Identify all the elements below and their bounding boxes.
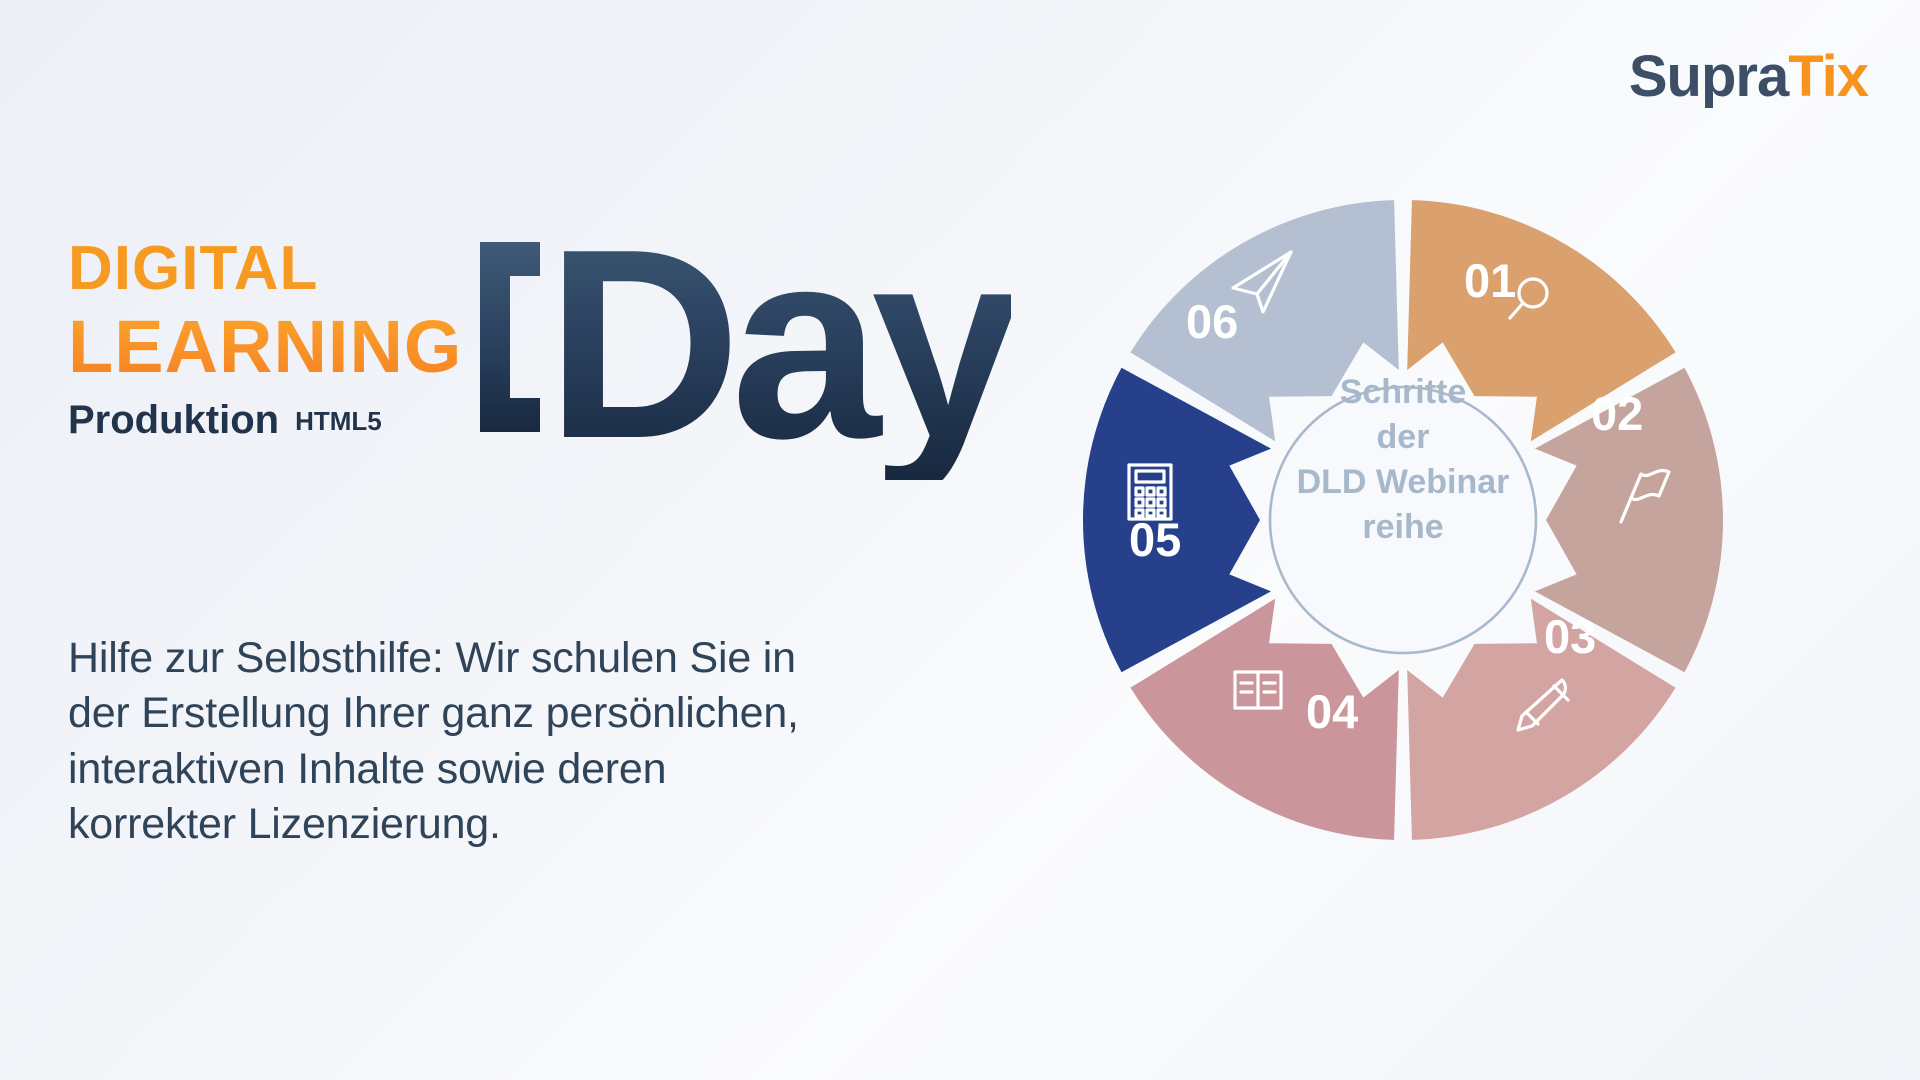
wheel-diagram: Schritte der DLD Webinar reihe 01 02 03 …: [1063, 180, 1743, 860]
brand-name-supra: Supra: [1629, 44, 1788, 109]
headline-learning: LEARNING: [68, 310, 462, 384]
subline-html5: HTML5: [295, 406, 382, 436]
body-paragraph: Hilfe zur Selbsthilfe: Wir schulen Sie i…: [68, 631, 838, 853]
wheel-svg: Schritte der DLD Webinar reihe 01 02 03 …: [1063, 180, 1743, 860]
headline-subline: ProduktionHTML5: [68, 398, 382, 443]
segment-number-03: 03: [1544, 610, 1596, 663]
center-line-4: reihe: [1362, 508, 1443, 546]
segment-number-01: 01: [1464, 254, 1516, 307]
segment-number-06: 06: [1186, 295, 1238, 348]
segment-number-02: 02: [1591, 387, 1643, 440]
headline-block: Day DIGITAL LEARNING ProduktionHTML5: [68, 238, 1068, 568]
center-line-3: DLD Webinar: [1297, 463, 1510, 501]
segment-number-05: 05: [1129, 513, 1181, 566]
brand-name-tix: Tix: [1788, 44, 1868, 109]
headline-digital: DIGITAL: [68, 238, 318, 300]
brand-logo: SupraTix: [1629, 48, 1868, 106]
center-line-1: Schritte: [1340, 373, 1467, 411]
center-line-2: der: [1377, 418, 1430, 456]
segment-number-04: 04: [1306, 685, 1358, 738]
subline-produktion: Produktion: [68, 398, 279, 442]
d-chevron-logo-icon: [480, 242, 640, 432]
